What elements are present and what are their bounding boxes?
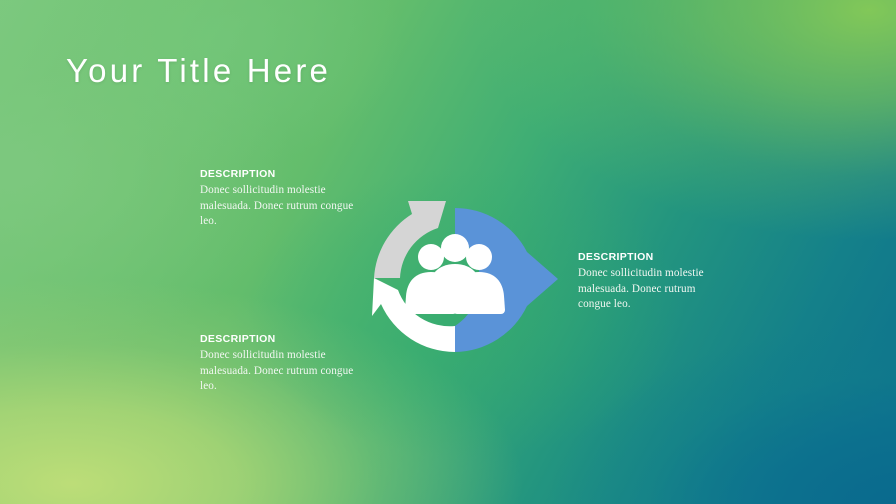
description-body: Donec sollicitudin molestie malesuada. D… [578, 266, 730, 313]
description-body: Donec sollicitudin molestie malesuada. D… [200, 348, 365, 395]
description-heading: DESCRIPTION [578, 251, 730, 263]
description-block-top-left: DESCRIPTION Donec sollicitudin molestie … [200, 168, 365, 230]
cycle-diagram [352, 186, 558, 374]
slide-canvas: Your Title Here DESCRIPTION Donec sollic… [0, 0, 896, 504]
page-title: Your Title Here [66, 52, 331, 90]
description-body: Donec sollicitudin molestie malesuada. D… [200, 183, 365, 230]
description-block-bottom-left: DESCRIPTION Donec sollicitudin molestie … [200, 333, 365, 395]
description-heading: DESCRIPTION [200, 333, 365, 345]
description-block-right: DESCRIPTION Donec sollicitudin molestie … [578, 251, 730, 313]
description-heading: DESCRIPTION [200, 168, 365, 180]
